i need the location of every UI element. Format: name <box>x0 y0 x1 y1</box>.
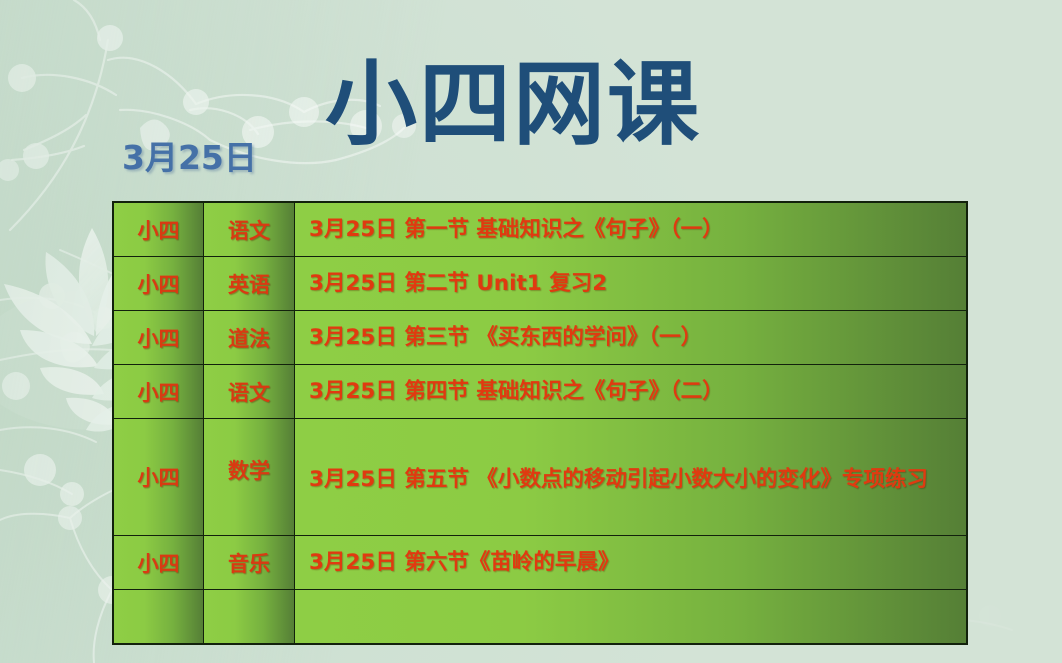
cell-grade: 小四 <box>114 257 204 311</box>
page-title: 小四网课 <box>325 58 701 152</box>
cell-subject: 语文 <box>204 203 295 257</box>
table-row[interactable]: 小四 数学 3月25日 第五节 《小数点的移动引起小数大小的变化》专项练习 <box>114 419 967 536</box>
cell-grade: 小四 <box>114 536 204 590</box>
table-row[interactable]: 小四 道法 3月25日 第三节 《买东西的学问》（一） <box>114 311 967 365</box>
cell-detail: 3月25日 第六节《苗岭的早晨》 <box>295 536 967 590</box>
cell-detail: 3月25日 第四节 基础知识之《句子》（二） <box>295 365 967 419</box>
table-row[interactable] <box>114 590 967 644</box>
cell-detail: 3月25日 第一节 基础知识之《句子》（一） <box>295 203 967 257</box>
cell-subject: 音乐 <box>204 536 295 590</box>
cell-grade: 小四 <box>114 365 204 419</box>
cell-detail: 3月25日 第五节 《小数点的移动引起小数大小的变化》专项练习 <box>295 419 967 536</box>
table-row[interactable]: 小四 语文 3月25日 第一节 基础知识之《句子》（一） <box>114 203 967 257</box>
table-row[interactable]: 小四 英语 3月25日 第二节 Unit1 复习2 <box>114 257 967 311</box>
cell-detail <box>295 590 967 644</box>
cell-grade: 小四 <box>114 419 204 536</box>
schedule-table: 小四 语文 3月25日 第一节 基础知识之《句子》（一） 小四 英语 3月25日… <box>113 202 967 644</box>
cell-grade: 小四 <box>114 203 204 257</box>
cell-subject: 数学 <box>204 419 295 536</box>
schedule-table-container: 小四 语文 3月25日 第一节 基础知识之《句子》（一） 小四 英语 3月25日… <box>112 201 968 645</box>
table-row[interactable]: 小四 语文 3月25日 第四节 基础知识之《句子》（二） <box>114 365 967 419</box>
cell-subject <box>204 590 295 644</box>
cell-detail: 3月25日 第三节 《买东西的学问》（一） <box>295 311 967 365</box>
cell-grade <box>114 590 204 644</box>
table-row[interactable]: 小四 音乐 3月25日 第六节《苗岭的早晨》 <box>114 536 967 590</box>
cell-subject: 道法 <box>204 311 295 365</box>
cell-subject: 英语 <box>204 257 295 311</box>
date-label: 3月25日 <box>122 131 257 179</box>
slide-canvas: 3月25日 小四网课 小四 语文 3月25日 第一节 基础知识之《句子》（一） … <box>0 0 1062 663</box>
cell-detail: 3月25日 第二节 Unit1 复习2 <box>295 257 967 311</box>
cell-grade: 小四 <box>114 311 204 365</box>
cell-subject: 语文 <box>204 365 295 419</box>
